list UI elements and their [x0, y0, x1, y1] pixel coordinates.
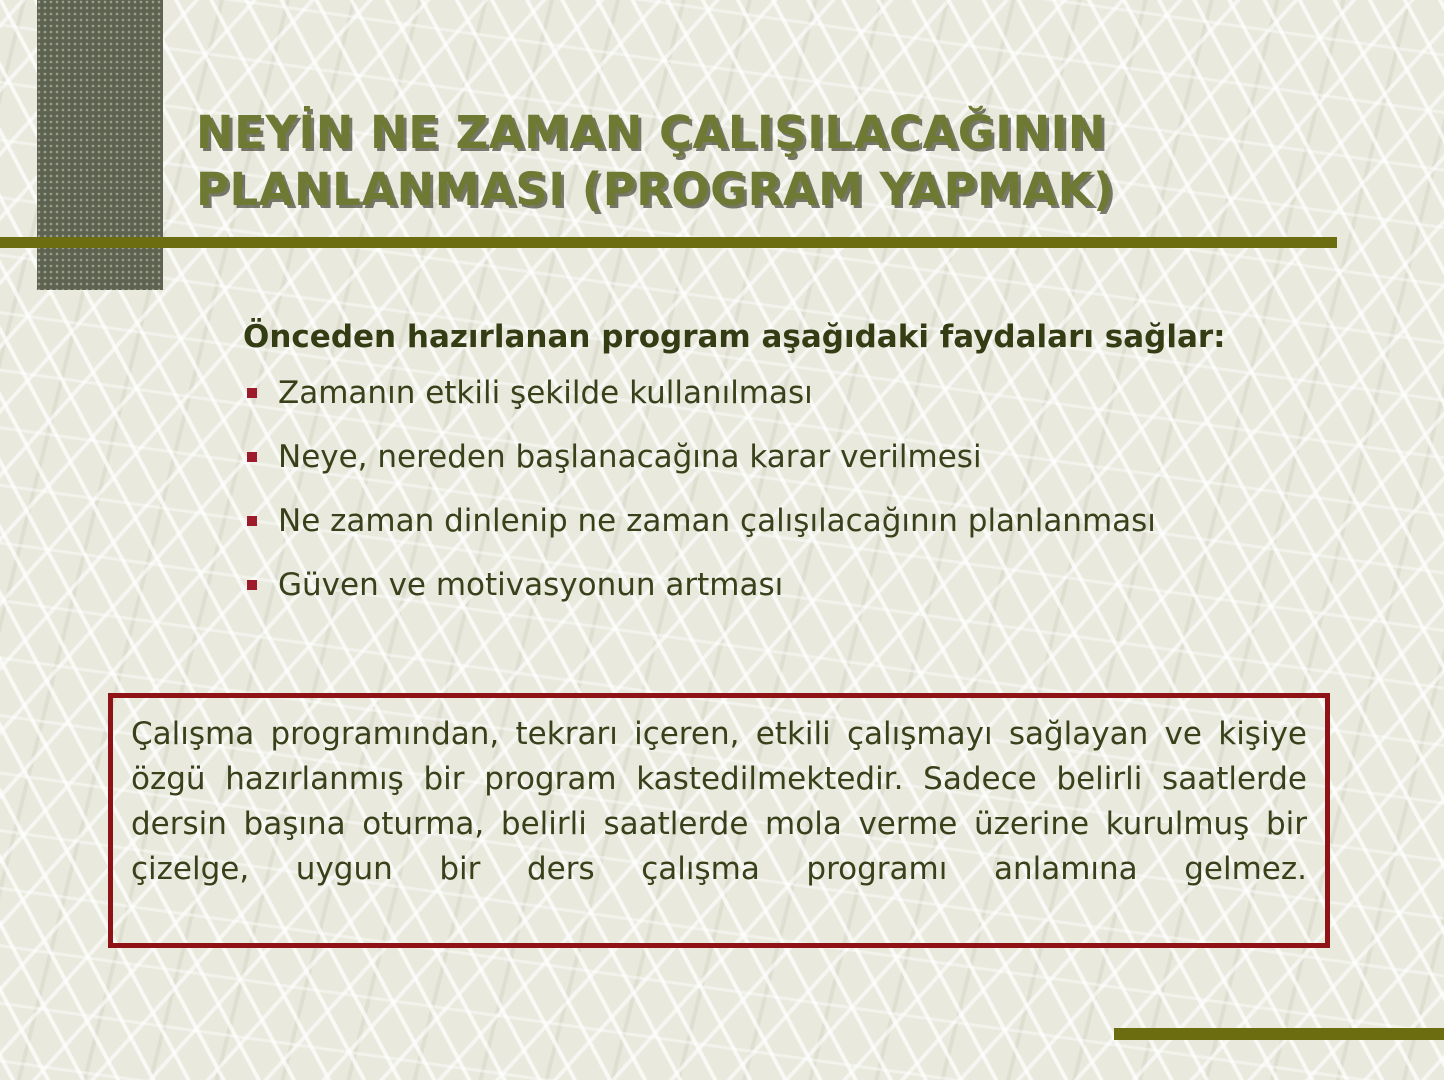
slide-title-line-2: PLANLANMASI (PROGRAM YAPMAK)	[196, 161, 1376, 218]
callout-text: Çalışma programından, tekrarı içeren, et…	[131, 712, 1307, 937]
presentation-slide: NEYİN NE ZAMAN ÇALIŞILACAĞININ PLANLANMA…	[0, 0, 1444, 1080]
lead-paragraph: Önceden hazırlanan program aşağıdaki fay…	[243, 318, 1323, 356]
list-item-label: Güven ve motivasyonun artması	[278, 567, 783, 603]
slide-title: NEYİN NE ZAMAN ÇALIŞILACAĞININ PLANLANMA…	[196, 104, 1376, 218]
list-item: Zamanın etkili şekilde kullanılması	[243, 374, 1323, 412]
benefits-list: Zamanın etkili şekilde kullanılması Neye…	[243, 374, 1323, 604]
list-item: Neye, nereden başlanacağına karar verilm…	[243, 438, 1323, 476]
square-bullet-icon	[247, 580, 257, 590]
square-bullet-icon	[247, 516, 257, 526]
list-item-label: Neye, nereden başlanacağına karar verilm…	[278, 439, 982, 475]
list-item: Ne zaman dinlenip ne zaman çalışılacağın…	[243, 502, 1323, 540]
square-bullet-icon	[247, 388, 257, 398]
square-bullet-icon	[247, 452, 257, 462]
list-item: Güven ve motivasyonun artması	[243, 566, 1323, 604]
list-item-label: Ne zaman dinlenip ne zaman çalışılacağın…	[278, 503, 1156, 539]
title-divider-rule	[0, 237, 1337, 248]
slide-body: Önceden hazırlanan program aşağıdaki fay…	[243, 318, 1323, 630]
slide-title-line-1: NEYİN NE ZAMAN ÇALIŞILACAĞININ	[196, 104, 1376, 161]
list-item-label: Zamanın etkili şekilde kullanılması	[278, 375, 813, 411]
footer-accent-rule	[1114, 1028, 1444, 1040]
definition-callout-box: Çalışma programından, tekrarı içeren, et…	[108, 693, 1330, 948]
